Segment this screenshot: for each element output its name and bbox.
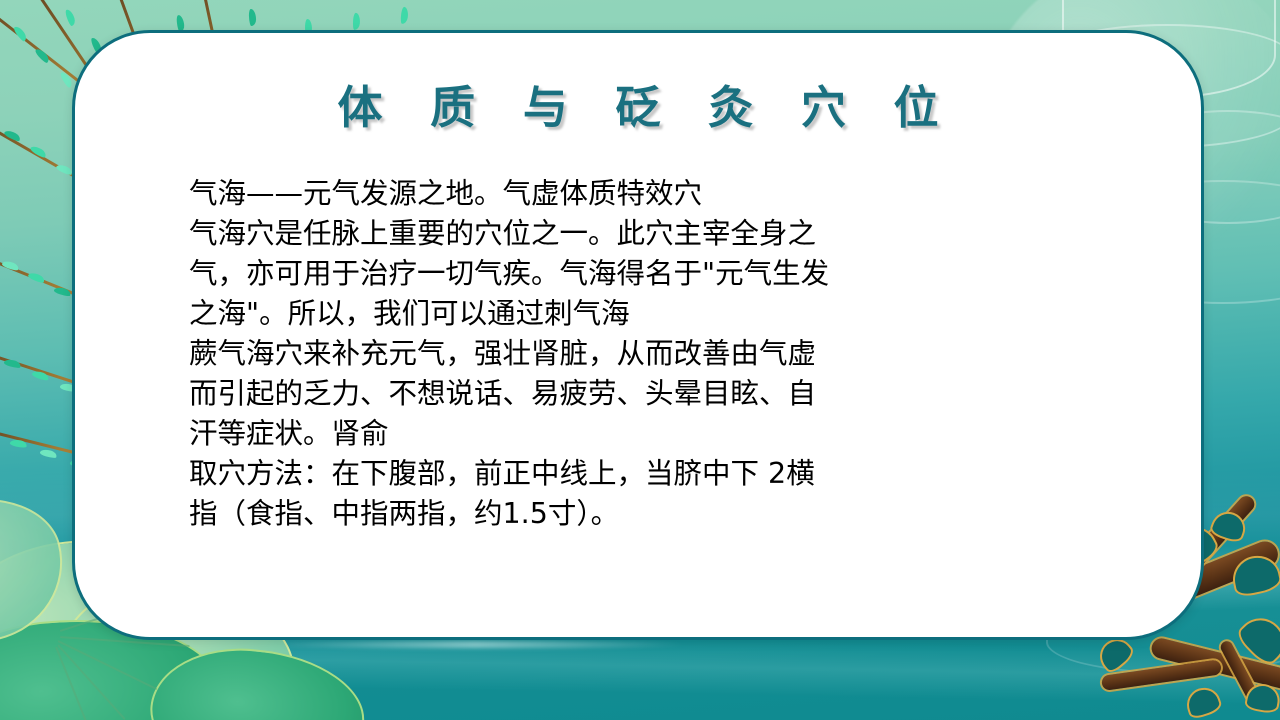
slide-body-text: 气海——元气发源之地。气虚体质特效穴 气海穴是任脉上重要的穴位之一。此穴主宰全身… xyxy=(75,136,1201,534)
content-card: 体 质 与 砭 灸 穴 位 气海——元气发源之地。气虚体质特效穴 气海穴是任脉上… xyxy=(72,30,1204,640)
water-streak-1 xyxy=(260,641,690,648)
page-title: 体 质 与 砭 灸 穴 位 xyxy=(75,33,1201,136)
slide-canvas: 体 质 与 砭 灸 穴 位 气海——元气发源之地。气虚体质特效穴 气海穴是任脉上… xyxy=(0,0,1280,720)
